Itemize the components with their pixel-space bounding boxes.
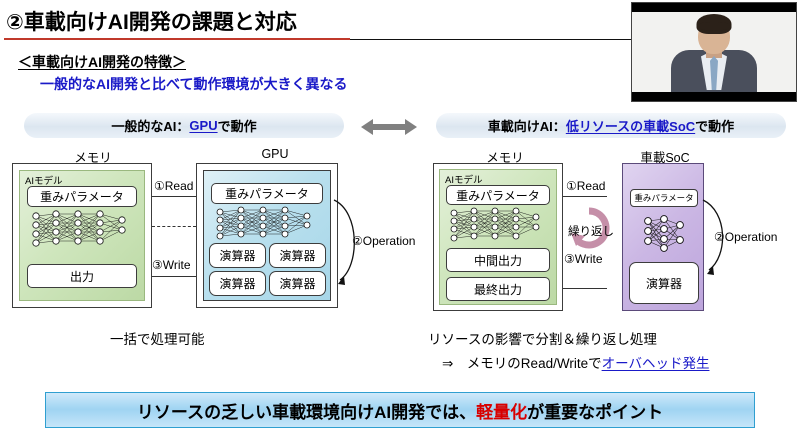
swap-horizontal-icon (361, 119, 417, 135)
right-note-line1: リソースの影響で分割＆繰り返し処理 (428, 328, 657, 348)
neural-network-icon (26, 208, 138, 250)
left-operation-label: ②Operation (352, 234, 415, 248)
neural-network-icon (210, 205, 324, 243)
right-write-line (563, 288, 607, 289)
left-divider-dash (152, 226, 196, 227)
right-header-pre: 車載向けAI： (488, 116, 566, 135)
left-header-pre: 一般的なAI： (111, 116, 189, 135)
right-mid-output-box: 中間出力 (446, 248, 550, 272)
presenter-hair (697, 14, 732, 34)
right-note-overhead: オーバヘッド発生 (602, 356, 710, 371)
left-output-box: 出力 (27, 264, 137, 288)
left-write-line (152, 276, 196, 277)
page-title: ②車載向けAI開発の課題と対応 (6, 6, 297, 36)
left-write-label: ③Write (152, 258, 191, 272)
right-ai-model-label: AIモデル (445, 172, 482, 186)
right-note-line2: ⇒ メモリのRead/Writeでオーバヘッド発生 (442, 352, 709, 372)
left-unit-1: 演算器 (269, 243, 326, 268)
left-gpu-weights-box: 重みパラメータ (211, 183, 323, 204)
right-section-header: 車載向けAI：低リソースの車載SoCで動作 (436, 113, 786, 138)
left-unit-3: 演算器 (269, 271, 326, 296)
left-unit-0: 演算器 (209, 243, 266, 268)
left-weights-box: 重みパラメータ (27, 186, 137, 207)
right-write-label: ③Write (564, 252, 603, 266)
right-final-output-box: 最終出力 (446, 277, 550, 301)
conclusion-banner: リソースの乏しい車載環境向けAI開発では、軽量化が重要なポイント (45, 392, 755, 428)
right-weights-box: 重みパラメータ (446, 185, 550, 205)
neural-network-icon (638, 213, 690, 255)
left-read-line (152, 196, 196, 197)
right-header-post: で動作 (695, 116, 734, 135)
conclusion-post: が重要なポイント (527, 398, 663, 423)
slide-root: ②車載向けAI開発の課題と対応 ＜車載向けAI開発の特徴＞ 一般的なAI開発と比… (0, 0, 800, 436)
feature-body: 一般的なAI開発と比べて動作環境が大きく異なる (40, 74, 347, 94)
feature-heading: ＜車載向けAI開発の特徴＞ (18, 52, 186, 72)
right-header-link: 低リソースの車載SoC (566, 116, 695, 135)
left-note: 一括で処理可能 (110, 328, 205, 348)
left-section-header: 一般的なAI：GPUで動作 (24, 113, 344, 138)
left-ai-model-label: AIモデル (25, 173, 62, 187)
left-header-link: GPU (189, 118, 217, 133)
right-soc-weights-box: 重みパラメータ (630, 189, 698, 207)
left-read-label: ①Read (154, 179, 193, 193)
presenter-video-frame (632, 12, 796, 92)
left-proc-caption: GPU (205, 147, 345, 161)
neural-network-icon (445, 206, 551, 245)
left-header-post: で動作 (218, 116, 257, 135)
right-read-label: ①Read (566, 179, 605, 193)
right-repeat-label: 繰り返し (568, 223, 614, 239)
right-operation-label: ②Operation (714, 230, 777, 244)
conclusion-highlight: 軽量化 (476, 398, 527, 423)
left-unit-2: 演算器 (209, 271, 266, 296)
right-note-line2-pre: ⇒ メモリのRead/Writeで (442, 356, 602, 371)
title-rule-red (4, 38, 350, 40)
presenter-video[interactable] (631, 2, 797, 102)
conclusion-pre: リソースの乏しい車載環境向けAI開発では、 (137, 398, 476, 423)
right-unit-0: 演算器 (629, 262, 699, 304)
right-read-line (563, 196, 607, 197)
